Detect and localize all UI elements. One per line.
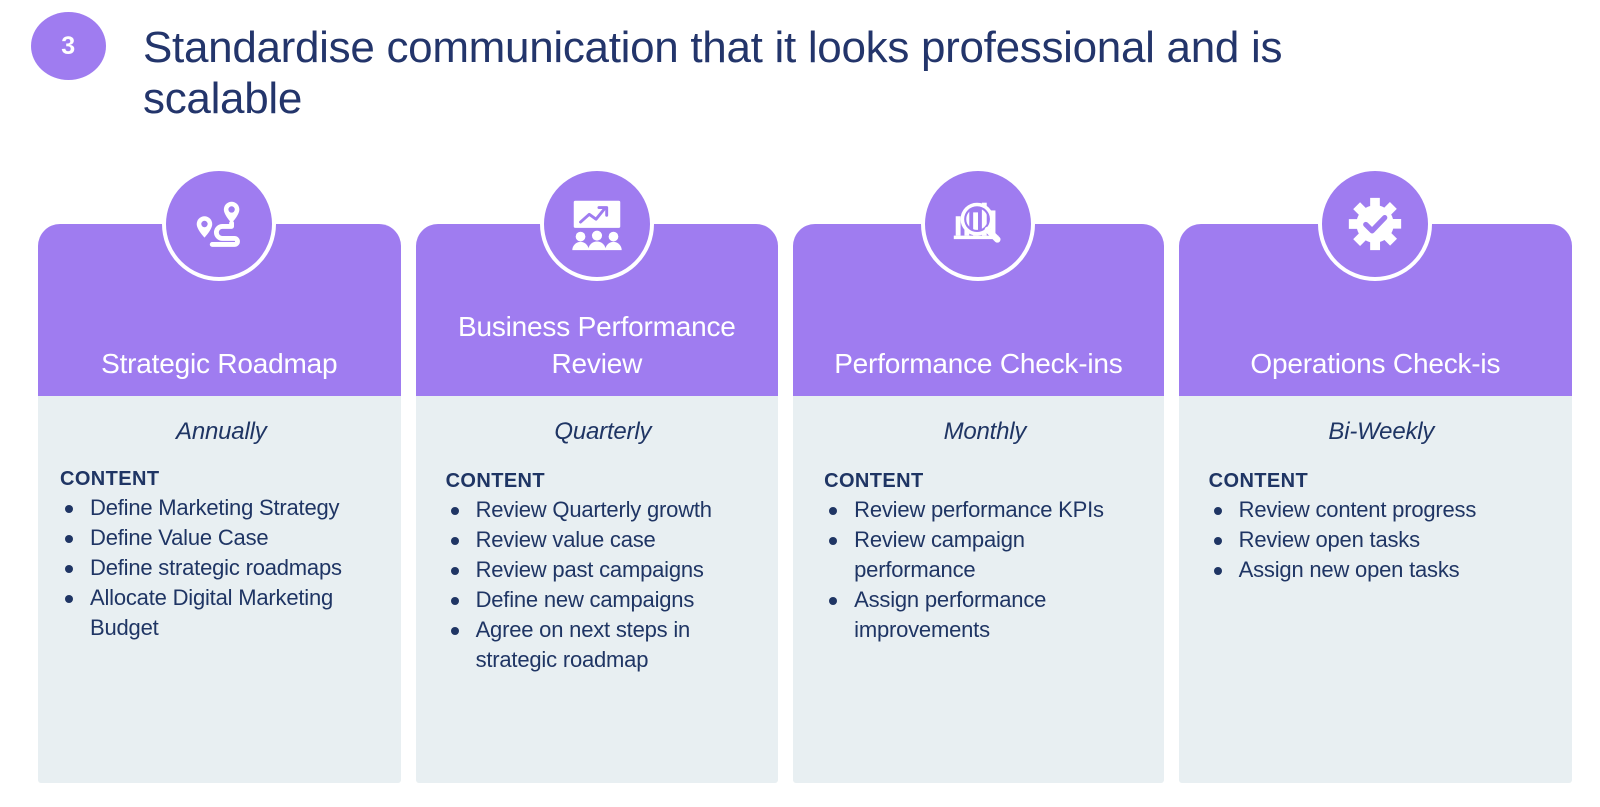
list-item: Allocate Digital Marketing Budget — [56, 583, 387, 643]
content-label: CONTENT — [824, 470, 1150, 493]
card-title: Performance Check-ins — [828, 345, 1128, 382]
content-label: CONTENT — [446, 470, 765, 493]
step-number-badge: 3 — [31, 12, 106, 80]
list-item: Define new campaigns — [442, 585, 765, 615]
card-title: Operations Check-is — [1244, 345, 1506, 382]
slide-header: 3 Standardise communication that it look… — [0, 0, 1600, 150]
content-label: CONTENT — [1209, 470, 1558, 493]
card-operations-check-ins[interactable]: Operations Check-is Bi-Weekly CONTENT Re… — [1179, 224, 1572, 783]
content-list: Review Quarterly growth Review value cas… — [442, 495, 765, 675]
list-item: Define strategic roadmaps — [56, 553, 387, 583]
card-header: Performance Check-ins — [793, 224, 1164, 396]
list-item: Review Quarterly growth — [442, 495, 765, 525]
content-list: Review content progress Review open task… — [1205, 495, 1558, 585]
card-cadence: Bi-Weekly — [1205, 418, 1558, 446]
card-performance-check-ins[interactable]: Performance Check-ins Monthly CONTENT Re… — [793, 224, 1164, 783]
card-body: Monthly CONTENT Review performance KPIs … — [793, 396, 1164, 783]
page-title: Standardise communication that it looks … — [143, 22, 1443, 124]
cadence-cards-row: Strategic Roadmap Annually CONTENT Defin… — [38, 224, 1572, 783]
list-item: Review performance KPIs — [820, 495, 1150, 525]
card-cadence: Quarterly — [442, 418, 765, 446]
step-number: 3 — [61, 32, 75, 61]
content-list: Review performance KPIs Review campaign … — [820, 495, 1150, 645]
presentation-chart-people-icon — [540, 167, 654, 281]
list-item: Assign performance improvements — [820, 585, 1150, 645]
card-header: Operations Check-is — [1179, 224, 1572, 396]
content-label: CONTENT — [60, 468, 387, 491]
list-item: Agree on next steps in strategic roadmap — [442, 615, 765, 675]
list-item: Review content progress — [1205, 495, 1558, 525]
magnifier-bar-chart-icon — [921, 167, 1035, 281]
content-list: Define Marketing Strategy Define Value C… — [56, 493, 387, 643]
card-title: Strategic Roadmap — [95, 345, 343, 382]
card-title: Business Performance Review — [416, 308, 779, 382]
card-body: Bi-Weekly CONTENT Review content progres… — [1179, 396, 1572, 783]
gear-check-icon — [1318, 167, 1432, 281]
list-item: Define Value Case — [56, 523, 387, 553]
list-item: Review value case — [442, 525, 765, 555]
list-item: Review past campaigns — [442, 555, 765, 585]
card-strategic-roadmap[interactable]: Strategic Roadmap Annually CONTENT Defin… — [38, 224, 401, 783]
list-item: Assign new open tasks — [1205, 555, 1558, 585]
card-cadence: Monthly — [820, 418, 1150, 446]
card-header: Strategic Roadmap — [38, 224, 401, 396]
list-item: Define Marketing Strategy — [56, 493, 387, 523]
list-item: Review campaign performance — [820, 525, 1150, 585]
card-header: Business Performance Review — [416, 224, 779, 396]
route-map-pin-icon — [162, 167, 276, 281]
card-body: Annually CONTENT Define Marketing Strate… — [38, 396, 401, 783]
list-item: Review open tasks — [1205, 525, 1558, 555]
card-business-performance-review[interactable]: Business Performance Review Quarterly CO… — [416, 224, 779, 783]
card-body: Quarterly CONTENT Review Quarterly growt… — [416, 396, 779, 783]
card-cadence: Annually — [56, 418, 387, 446]
